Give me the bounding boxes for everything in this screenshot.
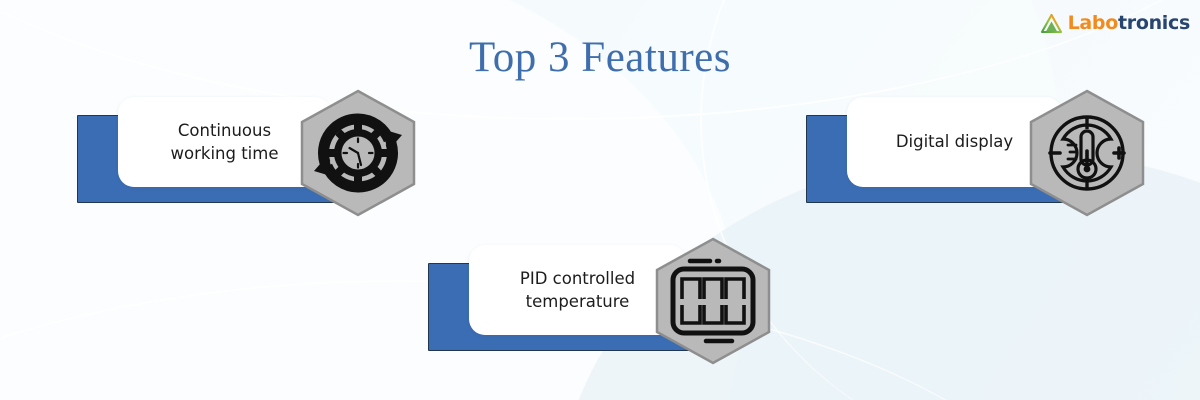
brand-name-primary: Labo — [1068, 12, 1118, 34]
page-title: Top 3 Features — [0, 36, 1200, 79]
brand-name-secondary: tronics — [1118, 12, 1190, 34]
feature-label: PID controlled temperature — [520, 267, 635, 314]
feature-card-digital-display[interactable]: Digital display — [806, 97, 1146, 217]
brand-logo-text: Labotronics — [1068, 14, 1190, 33]
brand-logo[interactable]: Labotronics — [1040, 13, 1190, 34]
feature-card-continuous-working-time[interactable]: Continuous working time — [77, 97, 417, 217]
feature-card-pid-controlled-temperature[interactable]: PID controlled temperature — [428, 245, 773, 365]
feature-label: Continuous working time — [171, 119, 279, 166]
thermometer-plus-minus-icon — [1050, 117, 1124, 189]
labotronics-triangle-icon — [1040, 13, 1063, 34]
clock-gear-refresh-icon — [314, 119, 402, 187]
feature-icon-hexagon — [1028, 89, 1146, 217]
feature-icon-hexagon — [654, 237, 772, 365]
features-infographic: Labotronics Top 3 Features Continuous wo… — [0, 0, 1200, 400]
feature-icon-hexagon — [299, 89, 417, 217]
feature-label: Digital display — [896, 130, 1013, 153]
